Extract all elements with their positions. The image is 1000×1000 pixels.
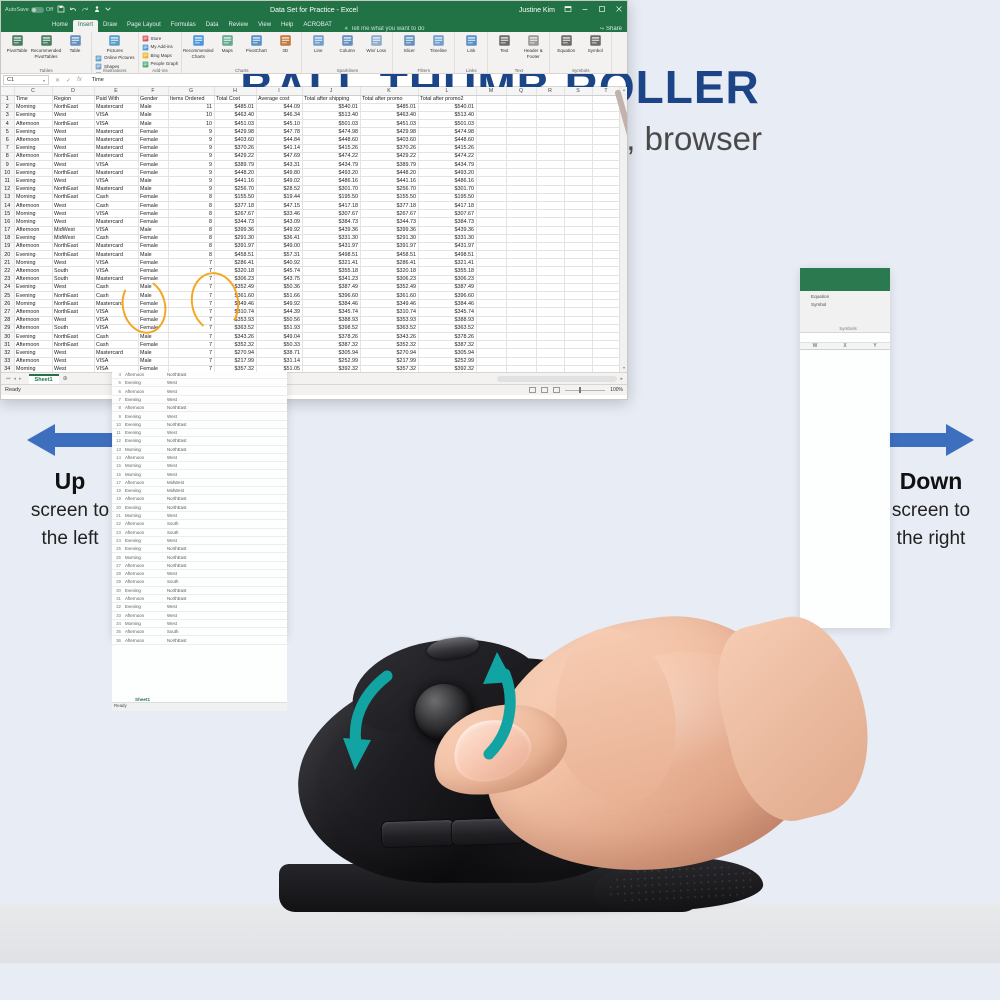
row-header[interactable]: 31	[1, 341, 14, 349]
empty-cell[interactable]	[592, 226, 619, 234]
cell-paid[interactable]: Mastercard	[94, 128, 138, 136]
bg-left-cell-time[interactable]: Morning	[123, 621, 167, 626]
cell-total[interactable]: $361.60	[214, 292, 256, 300]
bg-left-cell-time[interactable]: Afternoon	[123, 405, 167, 410]
cell-gender[interactable]: Male	[138, 332, 168, 340]
autosave-pill-icon[interactable]	[31, 7, 44, 13]
cell-gender[interactable]: Male	[138, 226, 168, 234]
bg-right-col-x[interactable]: X	[830, 343, 860, 349]
column-header-f[interactable]: F	[138, 87, 168, 95]
cell-promo2[interactable]: $431.97	[418, 242, 476, 250]
cell-gender[interactable]: Female	[138, 201, 168, 209]
bg-left-row-header[interactable]: 35	[112, 629, 123, 634]
empty-cell[interactable]	[564, 210, 592, 218]
cell-items[interactable]: 9	[168, 161, 214, 169]
cell-ship[interactable]: $398.52	[302, 324, 360, 332]
empty-cell[interactable]	[506, 349, 536, 357]
empty-cell[interactable]	[476, 349, 506, 357]
cell-promo[interactable]: $320.18	[360, 267, 418, 275]
empty-cell[interactable]	[564, 120, 592, 128]
empty-cell[interactable]	[536, 341, 564, 349]
empty-cell[interactable]	[506, 316, 536, 324]
column-header-j[interactable]: J	[302, 87, 360, 95]
table-row[interactable]: 23AfternoonSouthMastercardFemale7$306.23…	[1, 275, 619, 283]
table-row[interactable]: 31AfternoonNorthEastCashFemale7$352.32$5…	[1, 341, 619, 349]
cell-time[interactable]: Evening	[14, 349, 52, 357]
cell-promo[interactable]: $441.16	[360, 177, 418, 185]
save-icon[interactable]	[57, 5, 65, 15]
cell-ship[interactable]: $387.32	[302, 341, 360, 349]
bg-left-cell-time[interactable]: Afternoon	[123, 455, 167, 460]
cell-avg[interactable]: $47.69	[256, 152, 302, 160]
bg-left-cell-time[interactable]: Afternoon	[123, 530, 167, 535]
bg-left-row[interactable]: 12EveningNorthEast	[112, 437, 287, 445]
cell-region[interactable]: NorthEast	[52, 103, 94, 111]
hscroll-right-icon[interactable]: ▸	[620, 376, 623, 382]
empty-cell[interactable]	[506, 128, 536, 136]
bg-left-cell-time[interactable]: Evening	[123, 430, 167, 435]
cell-promo2[interactable]: $305.94	[418, 349, 476, 357]
header-cell[interactable]: Total after promo2	[418, 95, 476, 103]
cell-gender[interactable]: Female	[138, 234, 168, 242]
cell-promo2[interactable]: $384.73	[418, 218, 476, 226]
cell-promo2[interactable]: $388.93	[418, 316, 476, 324]
empty-cell[interactable]	[506, 201, 536, 209]
bg-left-cell-region[interactable]: NorthEast	[167, 438, 211, 443]
cell-items[interactable]: 7	[168, 316, 214, 324]
row-header[interactable]: 16	[1, 218, 14, 226]
cell-gender[interactable]: Female	[138, 242, 168, 250]
empty-cell[interactable]	[476, 283, 506, 291]
empty-cell[interactable]	[592, 283, 619, 291]
row-header[interactable]: 17	[1, 226, 14, 234]
empty-cell[interactable]	[564, 95, 592, 103]
minimize-icon[interactable]	[581, 5, 589, 15]
bg-left-cell-region[interactable]: West	[167, 463, 211, 468]
empty-cell[interactable]	[536, 357, 564, 365]
ribbon-button-text[interactable]: Text	[491, 34, 517, 54]
cell-paid[interactable]: VISA	[94, 316, 138, 324]
cell-promo[interactable]: $217.99	[360, 357, 418, 365]
bg-left-cell-time[interactable]: Evening	[123, 546, 167, 551]
empty-cell[interactable]	[564, 300, 592, 308]
cell-items[interactable]: 7	[168, 300, 214, 308]
table-row[interactable]: 19AfternoonNorthEastMastercardFemale8$39…	[1, 242, 619, 250]
worksheet-area[interactable]: CDEFGHIJKLMQRSTUVWXY 1TimeRegionPaid Wit…	[1, 87, 627, 372]
bg-left-cell-time[interactable]: Afternoon	[123, 372, 167, 377]
cell-ship[interactable]: $195.50	[302, 193, 360, 201]
cell-region[interactable]: NorthEast	[52, 242, 94, 250]
ribbon-button-recommended-pivottables[interactable]: Recommended PivotTables	[33, 34, 59, 59]
empty-cell[interactable]	[536, 120, 564, 128]
bg-left-cell-region[interactable]: West	[167, 472, 211, 477]
cell-time[interactable]: Afternoon	[14, 324, 52, 332]
table-row[interactable]: 8AfternoonNorthEastMastercardFemale9$429…	[1, 152, 619, 160]
bg-left-cell-time[interactable]: Evening	[123, 422, 167, 427]
header-cell[interactable]: Total Cost	[214, 95, 256, 103]
column-header-e[interactable]: E	[94, 87, 138, 95]
bg-left-row-header[interactable]: 9	[112, 414, 123, 419]
cell-total[interactable]: $291.30	[214, 234, 256, 242]
cell-items[interactable]: 8	[168, 193, 214, 201]
cell-ship[interactable]: $321.41	[302, 259, 360, 267]
row-header[interactable]: 19	[1, 242, 14, 250]
cell-ship[interactable]: $493.20	[302, 169, 360, 177]
cell-promo2[interactable]: $355.18	[418, 267, 476, 275]
empty-cell[interactable]	[536, 332, 564, 340]
bg-left-row-header[interactable]: 32	[112, 604, 123, 609]
bg-left-row[interactable]: 29AfternoonSouth	[112, 578, 287, 586]
ribbon-tab-draw[interactable]: Draw	[98, 20, 122, 32]
ribbon-button-pivotchart[interactable]: PivotChart	[243, 34, 269, 54]
cell-promo2[interactable]: $331.30	[418, 234, 476, 242]
row-header[interactable]: 10	[1, 169, 14, 177]
cell-promo[interactable]: $451.03	[360, 120, 418, 128]
cell-region[interactable]: West	[52, 357, 94, 365]
undo-icon[interactable]	[69, 5, 77, 15]
empty-cell[interactable]	[536, 210, 564, 218]
cell-ship[interactable]: $498.51	[302, 251, 360, 259]
bg-left-row[interactable]: 34MorningWest	[112, 620, 287, 628]
empty-cell[interactable]	[506, 193, 536, 201]
bg-left-row-header[interactable]: 8	[112, 405, 123, 410]
ribbon-button-column[interactable]: Column	[334, 34, 360, 54]
empty-cell[interactable]	[536, 103, 564, 111]
bg-left-cell-region[interactable]: NorthEast	[167, 505, 211, 510]
cell-ship[interactable]: $378.26	[302, 332, 360, 340]
bg-left-row[interactable]: 28AfternoonWest	[112, 570, 287, 578]
cell-gender[interactable]: Female	[138, 152, 168, 160]
cell-region[interactable]: West	[52, 128, 94, 136]
ribbon-button-recommended-charts[interactable]: Recommended Charts	[185, 34, 211, 59]
empty-cell[interactable]	[564, 308, 592, 316]
ribbon-tab-help[interactable]: Help	[276, 20, 298, 32]
bg-left-row[interactable]: 4AfternoonNorthEast	[112, 371, 287, 379]
empty-cell[interactable]	[476, 357, 506, 365]
cell-gender[interactable]: Female	[138, 316, 168, 324]
bg-left-cell-time[interactable]: Afternoon	[123, 596, 167, 601]
cell-paid[interactable]: Mastercard	[94, 103, 138, 111]
header-cell[interactable]: Gender	[138, 95, 168, 103]
header-cell[interactable]: Items Ordered	[168, 95, 214, 103]
cell-promo[interactable]: $353.93	[360, 316, 418, 324]
cell-gender[interactable]: Female	[138, 324, 168, 332]
cell-total[interactable]: $286.41	[214, 259, 256, 267]
cell-avg[interactable]: $44.84	[256, 136, 302, 144]
empty-cell[interactable]	[564, 226, 592, 234]
cell-region[interactable]: NorthEast	[52, 292, 94, 300]
empty-cell[interactable]	[592, 267, 619, 275]
cell-gender[interactable]: Male	[138, 177, 168, 185]
row-header[interactable]: 20	[1, 251, 14, 259]
bg-left-cell-region[interactable]: NorthEast	[167, 555, 211, 560]
cell-total[interactable]: $306.23	[214, 275, 256, 283]
cell-promo2[interactable]: $378.26	[418, 332, 476, 340]
bg-left-row[interactable]: 7EveningWest	[112, 396, 287, 404]
cell-promo2[interactable]: $417.18	[418, 201, 476, 209]
bg-left-row[interactable]: 20EveningNorthEast	[112, 504, 287, 512]
bg-left-row[interactable]: 25EveningNorthEast	[112, 545, 287, 553]
row-header[interactable]: 2	[1, 103, 14, 111]
empty-cell[interactable]	[564, 201, 592, 209]
row-header[interactable]: 26	[1, 300, 14, 308]
bg-left-cell-time[interactable]: Morning	[123, 513, 167, 518]
cell-gender[interactable]: Female	[138, 275, 168, 283]
cell-paid[interactable]: VISA	[94, 365, 138, 372]
cell-region[interactable]: NorthEast	[52, 120, 94, 128]
cell-region[interactable]: South	[52, 267, 94, 275]
bg-right-item-equation[interactable]: Equation	[803, 294, 887, 299]
bg-left-row[interactable]: 11EveningWest	[112, 429, 287, 437]
zoom-level[interactable]: 100%	[610, 387, 623, 393]
cell-ship[interactable]: $513.40	[302, 111, 360, 119]
bg-left-cell-time[interactable]: Afternoon	[123, 389, 167, 394]
column-header-r[interactable]: R	[536, 87, 564, 95]
bg-left-cell-region[interactable]: NorthEast	[167, 372, 211, 377]
cell-time[interactable]: Evening	[14, 251, 52, 259]
cell-time[interactable]: Evening	[14, 292, 52, 300]
cell-total[interactable]: $370.26	[214, 144, 256, 152]
ribbon-button-online-pictures[interactable]: Online Pictures	[95, 55, 135, 62]
bg-left-row-header[interactable]: 6	[112, 389, 123, 394]
cell-ship[interactable]: $396.60	[302, 292, 360, 300]
empty-cell[interactable]	[536, 226, 564, 234]
empty-cell[interactable]	[476, 144, 506, 152]
cell-items[interactable]: 7	[168, 324, 214, 332]
cell-avg[interactable]: $28.52	[256, 185, 302, 193]
table-row[interactable]: 5EveningWestMastercardFemale9$429.98$47.…	[1, 128, 619, 136]
empty-cell[interactable]	[476, 365, 506, 372]
cell-ship[interactable]: $341.23	[302, 275, 360, 283]
bg-left-row-header[interactable]: 13	[112, 447, 123, 452]
row-header[interactable]: 4	[1, 120, 14, 128]
empty-cell[interactable]	[564, 103, 592, 111]
cell-total[interactable]: $343.26	[214, 332, 256, 340]
bg-left-cell-region[interactable]: West	[167, 604, 211, 609]
cell-time[interactable]: Morning	[14, 193, 52, 201]
empty-cell[interactable]	[506, 210, 536, 218]
empty-cell[interactable]	[476, 185, 506, 193]
cell-time[interactable]: Morning	[14, 210, 52, 218]
empty-cell[interactable]	[506, 226, 536, 234]
cell-ship[interactable]: $388.93	[302, 316, 360, 324]
ribbon-button-pivottable[interactable]: PivotTable	[4, 34, 30, 54]
table-row[interactable]: 1TimeRegionPaid WithGenderItems OrderedT…	[1, 95, 619, 103]
bg-left-cell-time[interactable]: Evening	[123, 505, 167, 510]
bg-left-cell-time[interactable]: Morning	[123, 555, 167, 560]
empty-cell[interactable]	[536, 300, 564, 308]
cell-paid[interactable]: Mastercard	[94, 218, 138, 226]
bg-left-row[interactable]: 15MorningWest	[112, 462, 287, 470]
cell-gender[interactable]: Male	[138, 103, 168, 111]
bg-left-row[interactable]: 19AfternoonNorthEast	[112, 495, 287, 503]
normal-view-icon[interactable]	[529, 387, 536, 393]
cell-total[interactable]: $391.97	[214, 242, 256, 250]
empty-cell[interactable]	[476, 177, 506, 185]
empty-cell[interactable]	[564, 324, 592, 332]
empty-cell[interactable]	[506, 111, 536, 119]
empty-cell[interactable]	[536, 292, 564, 300]
empty-cell[interactable]	[506, 95, 536, 103]
scroll-down-icon[interactable]: ▾	[620, 365, 627, 372]
row-header[interactable]: 22	[1, 267, 14, 275]
empty-cell[interactable]	[506, 169, 536, 177]
cell-promo2[interactable]: $415.26	[418, 144, 476, 152]
cell-promo2[interactable]: $301.70	[418, 185, 476, 193]
cell-gender[interactable]: Female	[138, 300, 168, 308]
empty-cell[interactable]	[592, 128, 619, 136]
bg-left-row-header[interactable]: 25	[112, 546, 123, 551]
column-header-s[interactable]: S	[564, 87, 592, 95]
cell-gender[interactable]: Male	[138, 251, 168, 259]
column-header-h[interactable]: H	[214, 87, 256, 95]
bg-left-row-header[interactable]: 15	[112, 463, 123, 468]
cell-gender[interactable]: Female	[138, 169, 168, 177]
bg-left-row[interactable]: 22AfternoonSouth	[112, 520, 287, 528]
empty-cell[interactable]	[536, 349, 564, 357]
bg-left-cell-time[interactable]: Afternoon	[123, 496, 167, 501]
sheet-nav-arrows[interactable]: ⏮ ◂ ▸	[3, 376, 25, 382]
row-header[interactable]: 8	[1, 152, 14, 160]
header-cell[interactable]: Total after shipping	[302, 95, 360, 103]
first-sheet-icon[interactable]: ⏮	[6, 376, 11, 382]
cell-promo[interactable]: $155.50	[360, 193, 418, 201]
cell-promo2[interactable]: $501.03	[418, 120, 476, 128]
cell-total[interactable]: $270.94	[214, 349, 256, 357]
row-header[interactable]: 34	[1, 365, 14, 372]
cell-region[interactable]: West	[52, 316, 94, 324]
cell-region[interactable]: West	[52, 177, 94, 185]
bg-left-row[interactable]: 26MorningNorthEast	[112, 553, 287, 561]
bg-left-cell-region[interactable]: West	[167, 571, 211, 576]
bg-left-row-header[interactable]: 4	[112, 372, 123, 377]
empty-cell[interactable]	[564, 152, 592, 160]
cell-promo[interactable]: $389.79	[360, 161, 418, 169]
bg-left-cell-region[interactable]: NorthEast	[167, 422, 211, 427]
cell-total[interactable]: $377.18	[214, 201, 256, 209]
table-row[interactable]: 14AfternoonWestCashFemale8$377.18$47.15$…	[1, 201, 619, 209]
bg-left-row-header[interactable]: 28	[112, 571, 123, 576]
quick-access-toolbar[interactable]: AutoSave Off	[5, 5, 111, 15]
cell-total[interactable]: $429.22	[214, 152, 256, 160]
empty-cell[interactable]	[592, 234, 619, 242]
cell-avg[interactable]: $57.31	[256, 251, 302, 259]
empty-cell[interactable]	[506, 136, 536, 144]
bg-left-row[interactable]: 31AfternoonNorthEast	[112, 595, 287, 603]
bg-left-cell-time[interactable]: Afternoon	[123, 480, 167, 485]
bg-left-row[interactable]: 32EveningWest	[112, 603, 287, 611]
bg-right-grid[interactable]: W X Y	[800, 343, 890, 593]
cell-gender[interactable]: Female	[138, 308, 168, 316]
empty-cell[interactable]	[564, 242, 592, 250]
cell-paid[interactable]: Mastercard	[94, 349, 138, 357]
empty-cell[interactable]	[476, 136, 506, 144]
header-cell[interactable]: Region	[52, 95, 94, 103]
empty-cell[interactable]	[564, 218, 592, 226]
empty-cell[interactable]	[564, 341, 592, 349]
cell-paid[interactable]: Cash	[94, 193, 138, 201]
table-row[interactable]: 3EveningWestVISAMale10$463.40$46.34$513.…	[1, 111, 619, 119]
table-row[interactable]: 7EveningWestMastercardFemale9$370.26$41.…	[1, 144, 619, 152]
cell-promo2[interactable]: $486.16	[418, 177, 476, 185]
table-row[interactable]: 12EveningNorthEastMastercardMale9$256.70…	[1, 185, 619, 193]
bg-left-cell-time[interactable]: Afternoon	[123, 571, 167, 576]
cell-promo2[interactable]: $363.52	[418, 324, 476, 332]
cell-region[interactable]: West	[52, 210, 94, 218]
bg-left-row-header[interactable]: 18	[112, 488, 123, 493]
cell-avg[interactable]: $47.15	[256, 201, 302, 209]
cell-promo[interactable]: $485.01	[360, 103, 418, 111]
row-header[interactable]: 1	[1, 95, 14, 103]
header-cell[interactable]: Paid With	[94, 95, 138, 103]
cell-paid[interactable]: Mastercard	[94, 144, 138, 152]
empty-cell[interactable]	[506, 103, 536, 111]
cell-gender[interactable]: Female	[138, 193, 168, 201]
cell-promo[interactable]: $256.70	[360, 185, 418, 193]
empty-cell[interactable]	[592, 357, 619, 365]
empty-cell[interactable]	[476, 128, 506, 136]
header-cell[interactable]: Average cost	[256, 95, 302, 103]
empty-cell[interactable]	[564, 251, 592, 259]
cell-gender[interactable]: Female	[138, 267, 168, 275]
cell-time[interactable]: Afternoon	[14, 267, 52, 275]
bg-left-row[interactable]: 17AfternoonMidWest	[112, 479, 287, 487]
cell-total[interactable]: $349.46	[214, 300, 256, 308]
bg-left-row-header[interactable]: 33	[112, 613, 123, 618]
cell-avg[interactable]: $49.04	[256, 332, 302, 340]
empty-cell[interactable]	[564, 111, 592, 119]
cell-time[interactable]: Morning	[14, 259, 52, 267]
bg-left-cell-region[interactable]: West	[167, 397, 211, 402]
empty-cell[interactable]	[592, 292, 619, 300]
empty-cell[interactable]	[476, 161, 506, 169]
empty-cell[interactable]	[476, 332, 506, 340]
empty-cell[interactable]	[536, 283, 564, 291]
ribbon-button-slicer[interactable]: Slicer	[396, 34, 422, 54]
cell-gender[interactable]: Female	[138, 210, 168, 218]
cell-region[interactable]: West	[52, 218, 94, 226]
empty-cell[interactable]	[592, 193, 619, 201]
cell-avg[interactable]: $51.93	[256, 324, 302, 332]
cell-total[interactable]: $458.51	[214, 251, 256, 259]
empty-cell[interactable]	[592, 201, 619, 209]
ribbon-button-header-footer[interactable]: Header & Footer	[520, 34, 546, 59]
cell-total[interactable]: $353.93	[214, 316, 256, 324]
cell-region[interactable]: NorthEast	[52, 185, 94, 193]
empty-cell[interactable]	[592, 242, 619, 250]
cell-region[interactable]: NorthEast	[52, 251, 94, 259]
zoom-slider[interactable]	[565, 390, 605, 391]
cell-ship[interactable]: $439.36	[302, 226, 360, 234]
bg-left-row[interactable]: 14AfternoonWest	[112, 454, 287, 462]
bg-left-cell-region[interactable]: West	[167, 389, 211, 394]
bg-left-cell-time[interactable]: Afternoon	[123, 638, 167, 643]
cell-region[interactable]: NorthEast	[52, 152, 94, 160]
cell-region[interactable]: South	[52, 324, 94, 332]
table-row[interactable]: 20EveningNorthEastMastercardMale8$458.51…	[1, 251, 619, 259]
empty-cell[interactable]	[564, 365, 592, 372]
empty-cell[interactable]	[536, 218, 564, 226]
empty-cell[interactable]	[536, 234, 564, 242]
cell-promo2[interactable]: $396.60	[418, 292, 476, 300]
empty-cell[interactable]	[476, 308, 506, 316]
cell-paid[interactable]: Cash	[94, 341, 138, 349]
cell-promo[interactable]: $270.94	[360, 349, 418, 357]
redo-icon[interactable]	[81, 5, 89, 15]
table-row[interactable]: 34MorningWestVISAFemale7$357.32$51.05$39…	[1, 365, 619, 372]
bg-right-col-w[interactable]: W	[800, 343, 830, 349]
ribbon-button-line[interactable]: Line	[305, 34, 331, 54]
